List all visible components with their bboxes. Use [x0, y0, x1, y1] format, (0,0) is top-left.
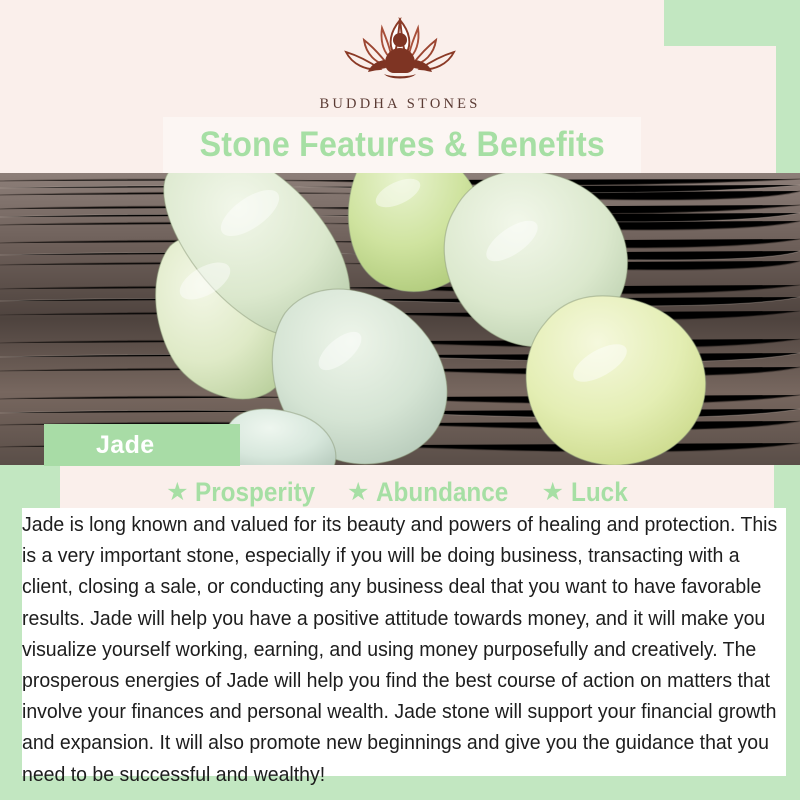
benefit-label: Luck [571, 477, 628, 508]
title-banner: Stone Features & Benefits [163, 117, 641, 173]
benefit-item: ★ Luck [541, 477, 633, 508]
benefit-label: Abundance [376, 477, 508, 508]
brand-lockup: BUDDHA STONES [0, 14, 800, 113]
description-text: Jade is long known and valued for its be… [22, 508, 786, 791]
stone-name-label: Jade [44, 431, 155, 460]
star-icon: ★ [347, 480, 369, 505]
benefit-label: Prosperity [195, 477, 315, 508]
description-card: Jade is long known and valued for its be… [22, 508, 786, 776]
benefit-item: ★ Abundance [347, 477, 523, 508]
brand-name: BUDDHA STONES [320, 96, 481, 113]
benefits-list: ★ Prosperity ★ Abundance ★ Luck [0, 474, 800, 510]
page-title: Stone Features & Benefits [199, 125, 604, 165]
product-photo [0, 173, 800, 465]
jade-stones-image [0, 173, 800, 465]
benefit-item: ★ Prosperity [166, 477, 329, 508]
star-icon: ★ [166, 480, 188, 505]
lotus-meditation-icon [326, 14, 474, 90]
star-icon: ★ [541, 480, 563, 505]
stone-name-tag: Jade [44, 424, 240, 466]
